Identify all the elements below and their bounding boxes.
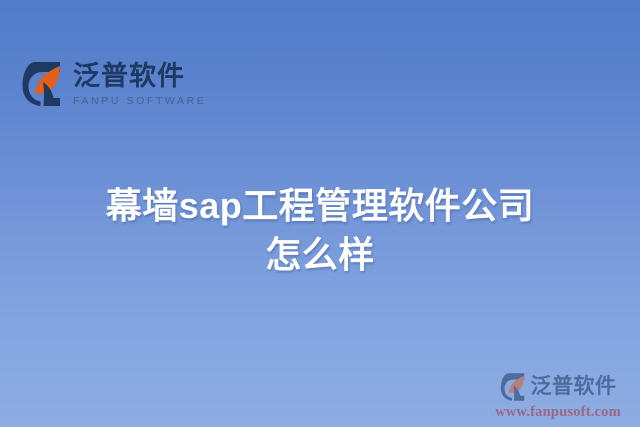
brand-logo: 泛普软件 FANPU SOFTWARE — [22, 60, 206, 108]
fanpu-logo-mark-icon — [22, 60, 62, 108]
brand-name-cn: 泛普软件 — [73, 62, 206, 91]
page-title-line-2: 怎么样 — [0, 231, 640, 280]
watermark-name-cn: 泛普软件 — [531, 376, 617, 397]
watermark: 泛普软件 www.fanpusoft.com — [484, 372, 632, 420]
promo-banner: 泛普软件 FANPU SOFTWARE 幕墙sap工程管理软件公司 怎么样 泛普… — [0, 0, 640, 427]
brand-name-en: FANPU SOFTWARE — [73, 96, 206, 107]
brand-text: 泛普软件 FANPU SOFTWARE — [73, 62, 206, 107]
watermark-logo: 泛普软件 — [500, 372, 617, 402]
watermark-url: www.fanpusoft.com — [495, 405, 621, 420]
page-title: 幕墙sap工程管理软件公司 怎么样 — [0, 182, 640, 280]
page-title-line-1: 幕墙sap工程管理软件公司 — [0, 182, 640, 231]
fanpu-logo-mark-icon — [500, 372, 526, 402]
